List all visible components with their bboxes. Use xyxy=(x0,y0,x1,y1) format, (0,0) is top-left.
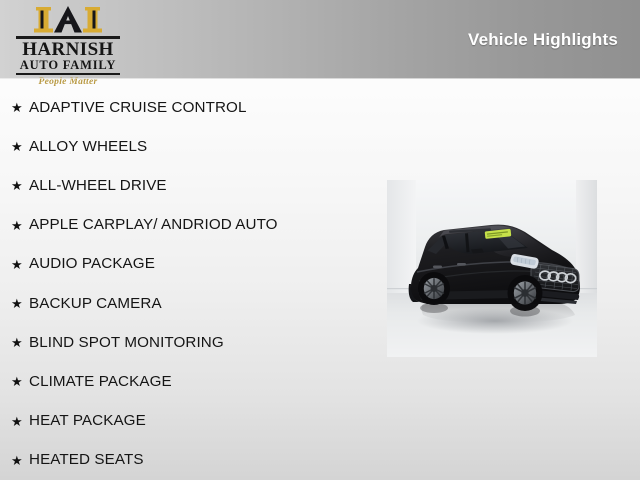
logo-name: HARNISH xyxy=(12,40,124,59)
audi-suv-illustration xyxy=(387,180,597,357)
star-bullet-icon: ★ xyxy=(11,297,29,310)
list-item: ★ BACKUP CAMERA xyxy=(0,284,380,323)
list-item: ★ ALLOY WHEELS xyxy=(0,127,380,166)
highlight-label: BACKUP CAMERA xyxy=(29,296,162,312)
list-item: ★ AUDIO PACKAGE xyxy=(0,245,380,284)
page-title: Vehicle Highlights xyxy=(468,30,618,50)
highlight-label: CLIMATE PACKAGE xyxy=(29,374,172,390)
list-item: ★ HEATED SEATS xyxy=(0,441,380,480)
vehicle-photo xyxy=(387,180,597,357)
highlight-label: ADAPTIVE CRUISE CONTROL xyxy=(29,100,247,116)
list-item: ★ HEAT PACKAGE xyxy=(0,402,380,441)
star-bullet-icon: ★ xyxy=(11,140,29,153)
star-bullet-icon: ★ xyxy=(11,336,29,349)
page-header: HARNISH AUTO FAMILY People Matter Vehicl… xyxy=(0,0,640,79)
star-bullet-icon: ★ xyxy=(11,454,29,467)
star-bullet-icon: ★ xyxy=(11,219,29,232)
star-bullet-icon: ★ xyxy=(11,415,29,428)
highlight-label: HEATED SEATS xyxy=(29,452,144,468)
highlight-label: AUDIO PACKAGE xyxy=(29,256,155,272)
logo-subname: AUTO FAMILY xyxy=(12,59,124,72)
harnish-columns-emblem-icon xyxy=(32,5,104,35)
list-item: ★ CLIMATE PACKAGE xyxy=(0,362,380,401)
star-bullet-icon: ★ xyxy=(11,101,29,114)
logo-divider-bottom xyxy=(16,73,120,75)
star-bullet-icon: ★ xyxy=(11,375,29,388)
highlight-label: HEAT PACKAGE xyxy=(29,413,146,429)
star-bullet-icon: ★ xyxy=(11,258,29,271)
logo-tagline: People Matter xyxy=(12,76,124,88)
highlight-label: ALLOY WHEELS xyxy=(29,139,147,155)
dealer-logo: HARNISH AUTO FAMILY People Matter xyxy=(12,5,124,75)
list-item: ★ APPLE CARPLAY/ ANDRIOD AUTO xyxy=(0,206,380,245)
highlight-label: ALL-WHEEL DRIVE xyxy=(29,178,167,194)
list-item: ★ BLIND SPOT MONITORING xyxy=(0,323,380,362)
vehicle-highlights-page: HARNISH AUTO FAMILY People Matter Vehicl… xyxy=(0,0,640,480)
list-item: ★ ALL-WHEEL DRIVE xyxy=(0,166,380,205)
highlight-label: BLIND SPOT MONITORING xyxy=(29,335,224,351)
star-bullet-icon: ★ xyxy=(11,179,29,192)
list-item: ★ ADAPTIVE CRUISE CONTROL xyxy=(0,88,380,127)
vehicle-highlights-list: ★ ADAPTIVE CRUISE CONTROL ★ ALLOY WHEELS… xyxy=(0,88,380,480)
highlight-label: APPLE CARPLAY/ ANDRIOD AUTO xyxy=(29,217,278,233)
